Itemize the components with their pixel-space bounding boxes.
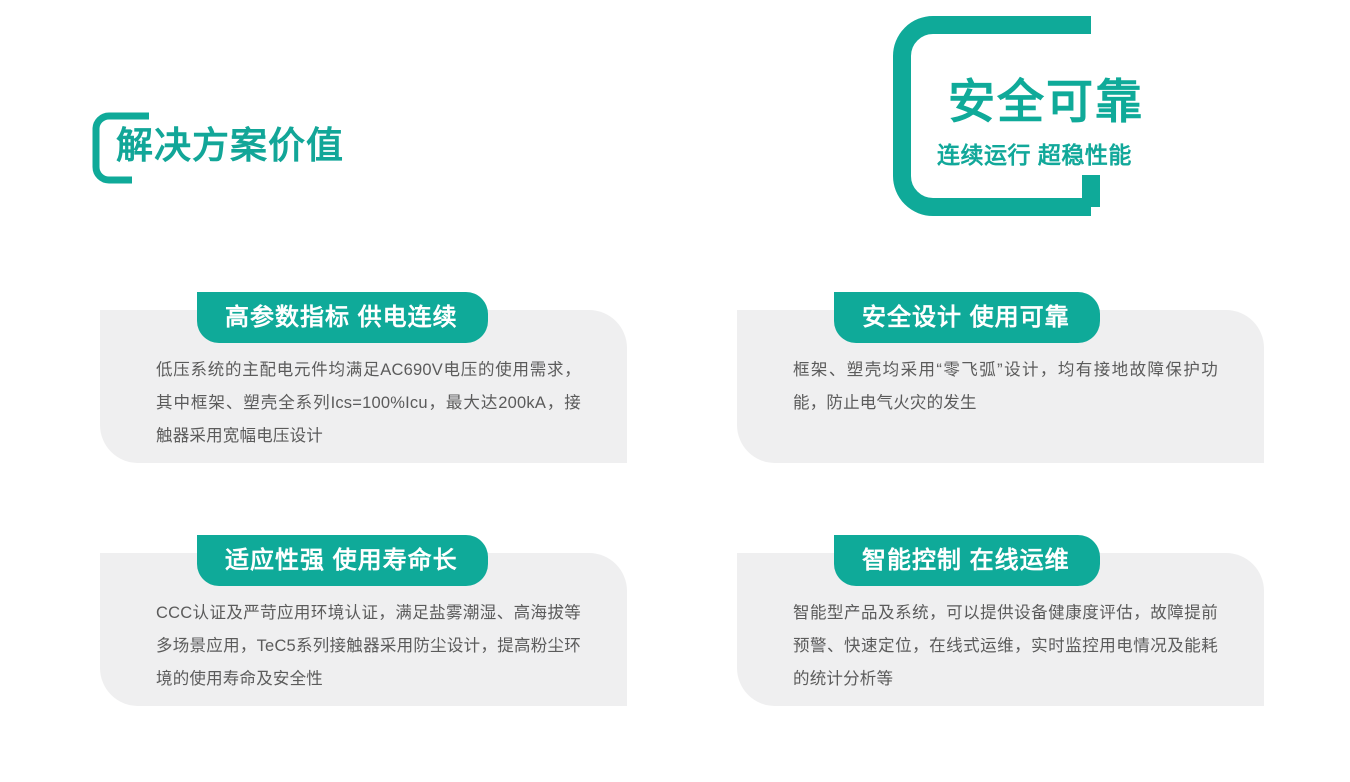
feature-card: 适应性强 使用寿命长 CCC认证及严苛应用环境认证，满足盐雾潮湿、高海拔等多场景… [100,535,627,706]
feature-card: 智能控制 在线运维 智能型产品及系统，可以提供设备健康度评估，故障提前预警、快速… [737,535,1264,706]
logo-headline: 安全可靠 [948,74,1188,130]
card-badge-label: 智能控制 在线运维 [862,546,1070,576]
page-title-block: 解决方案价值 [92,112,472,192]
card-badge: 智能控制 在线运维 [834,535,1100,586]
card-body-text: 框架、塑壳均采用“零飞弧”设计，均有接地故障保护功能，防止电气火灾的发生 [793,354,1218,420]
card-badge-label: 安全设计 使用可靠 [862,303,1070,333]
card-badge-label: 适应性强 使用寿命长 [225,546,458,576]
card-body-text: 低压系统的主配电元件均满足AC690V电压的使用需求，其中框架、塑壳全系列Ics… [156,354,581,453]
card-badge: 适应性强 使用寿命长 [197,535,488,586]
card-badge: 安全设计 使用可靠 [834,292,1100,343]
card-badge-label: 高参数指标 供电连续 [225,303,458,333]
feature-card: 高参数指标 供电连续 低压系统的主配电元件均满足AC690V电压的使用需求，其中… [100,292,627,463]
logo-block: 安全可靠 连续运行 超稳性能 [893,16,1183,216]
card-body-text: CCC认证及严苛应用环境认证，满足盐雾潮湿、高海拔等多场景应用，TeC5系列接触… [156,597,581,696]
page-title: 解决方案价值 [116,122,344,170]
card-body-text: 智能型产品及系统，可以提供设备健康度评估，故障提前预警、快速定位，在线式运维，实… [793,597,1218,696]
feature-card: 安全设计 使用可靠 框架、塑壳均采用“零飞弧”设计，均有接地故障保护功能，防止电… [737,292,1264,463]
card-badge: 高参数指标 供电连续 [197,292,488,343]
logo-tagline: 连续运行 超稳性能 [937,140,1187,170]
